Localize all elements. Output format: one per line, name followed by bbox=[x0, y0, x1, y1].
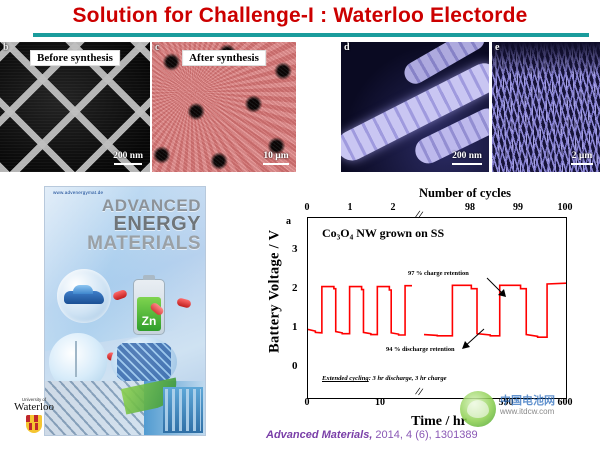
scale-bar-b: 200 nm bbox=[113, 152, 143, 165]
micrograph-row: b Before synthesis 200 nm c After synthe… bbox=[0, 42, 600, 172]
citation-details: 2014, 4 (6), 1301389 bbox=[372, 429, 477, 441]
micrograph-panel-d: d 200 nm bbox=[341, 42, 489, 172]
voltage-curve-left bbox=[308, 286, 412, 335]
chart-top-axis-title: Number of cycles bbox=[370, 186, 560, 201]
annotation-discharge-retention: 94 % discharge retention bbox=[386, 346, 455, 353]
bottom-tick: 10 bbox=[375, 397, 385, 408]
chart-bottom-axis-ticks: 0 10 590 600 bbox=[280, 397, 598, 410]
annotation-extended-cycling: Extended cycling: 3 hr discharge, 3 hr c… bbox=[322, 375, 447, 382]
caption-before-synthesis: Before synthesis bbox=[30, 50, 120, 66]
university-logo: University of Waterloo bbox=[6, 398, 62, 444]
panel-label-d: d bbox=[344, 42, 350, 53]
scale-bar-d-line bbox=[452, 163, 482, 165]
y-tick: 0 bbox=[292, 360, 298, 372]
chart-y-axis-label: Battery Voltage / V bbox=[266, 188, 284, 394]
battery-label: Zn bbox=[134, 314, 164, 328]
cover-title-line3: MATERIALS bbox=[87, 234, 201, 253]
panel-label-c: c bbox=[155, 42, 159, 53]
battery-cycling-chart: Number of cycles 0 1 2 98 99 100 a Batte… bbox=[280, 186, 598, 434]
scale-bar-c: 10 µm bbox=[263, 152, 289, 165]
chart-panel-label: a bbox=[286, 216, 291, 227]
micrograph-panel-e: e 2 µm bbox=[492, 42, 600, 172]
annotation-extended-rest: : 3 hr discharge, 3 hr charge bbox=[369, 375, 447, 382]
citation-journal: Advanced Materials, bbox=[266, 429, 372, 441]
discharge-arrow-icon bbox=[460, 328, 486, 352]
scale-bar-e: 2 µm bbox=[571, 152, 593, 165]
car-icon bbox=[64, 291, 104, 304]
micrograph-panel-c: c After synthesis 10 µm bbox=[152, 42, 296, 172]
top-tick: 1 bbox=[348, 202, 353, 213]
bottom-tick: 600 bbox=[558, 397, 573, 408]
top-tick: 100 bbox=[558, 202, 573, 213]
panel-label-e: e bbox=[495, 42, 499, 53]
top-tick: 99 bbox=[513, 202, 523, 213]
micrograph-panel-b: b Before synthesis 200 nm bbox=[0, 42, 150, 172]
bottom-tick: 590 bbox=[499, 397, 514, 408]
cover-title-line1: ADVANCED bbox=[102, 197, 201, 214]
cover-url: www.advenergymat.de bbox=[53, 190, 103, 195]
cover-title-line2: ENERGY bbox=[114, 214, 201, 234]
panel-label-b: b bbox=[3, 42, 9, 53]
y-tick: 1 bbox=[292, 321, 298, 333]
chart-top-axis-ticks: 0 1 2 98 99 100 bbox=[280, 202, 598, 215]
bottom-tick: 0 bbox=[305, 397, 310, 408]
page-title: Solution for Challenge-I : Waterloo Elec… bbox=[0, 4, 600, 28]
top-tick: 0 bbox=[305, 202, 310, 213]
y-tick: 2 bbox=[292, 282, 298, 294]
scale-bar-d: 200 nm bbox=[452, 152, 482, 165]
scale-bar-c-line bbox=[263, 163, 289, 165]
journal-cover-image: www.advenergymat.de ADVANCED ENERGY MATE… bbox=[44, 186, 206, 436]
slide-root: Solution for Challenge-I : Waterloo Elec… bbox=[0, 0, 600, 450]
scale-bar-d-label: 200 nm bbox=[452, 151, 482, 161]
caption-after-synthesis: After synthesis bbox=[182, 50, 266, 66]
title-divider bbox=[33, 33, 589, 37]
annotation-charge-retention: 97 % charge retention bbox=[408, 270, 469, 277]
scale-bar-e-line bbox=[571, 163, 593, 165]
chart-plot-area: Co₃O₄ NW grown on SS 97 % charge retenti… bbox=[307, 217, 567, 399]
annotation-extended-label: Extended cycling bbox=[322, 375, 369, 382]
voltage-curve bbox=[308, 218, 566, 398]
citation: Advanced Materials, 2014, 4 (6), 1301389 bbox=[266, 429, 478, 441]
scale-bar-c-label: 10 µm bbox=[263, 151, 288, 161]
y-tick: 3 bbox=[292, 243, 298, 255]
shield-icon bbox=[26, 415, 42, 433]
city-skyline bbox=[163, 387, 203, 433]
scale-bar-b-label: 200 nm bbox=[113, 151, 143, 161]
charge-arrow-icon bbox=[486, 277, 512, 303]
scale-bar-b-line bbox=[114, 163, 142, 165]
top-tick: 2 bbox=[391, 202, 396, 213]
cover-car-bubble bbox=[57, 269, 111, 323]
top-tick: 98 bbox=[465, 202, 475, 213]
university-logo-line2: Waterloo bbox=[6, 402, 62, 414]
scale-bar-e-label: 2 µm bbox=[572, 151, 593, 161]
chart-x-axis-label: Time / hr bbox=[280, 414, 598, 430]
